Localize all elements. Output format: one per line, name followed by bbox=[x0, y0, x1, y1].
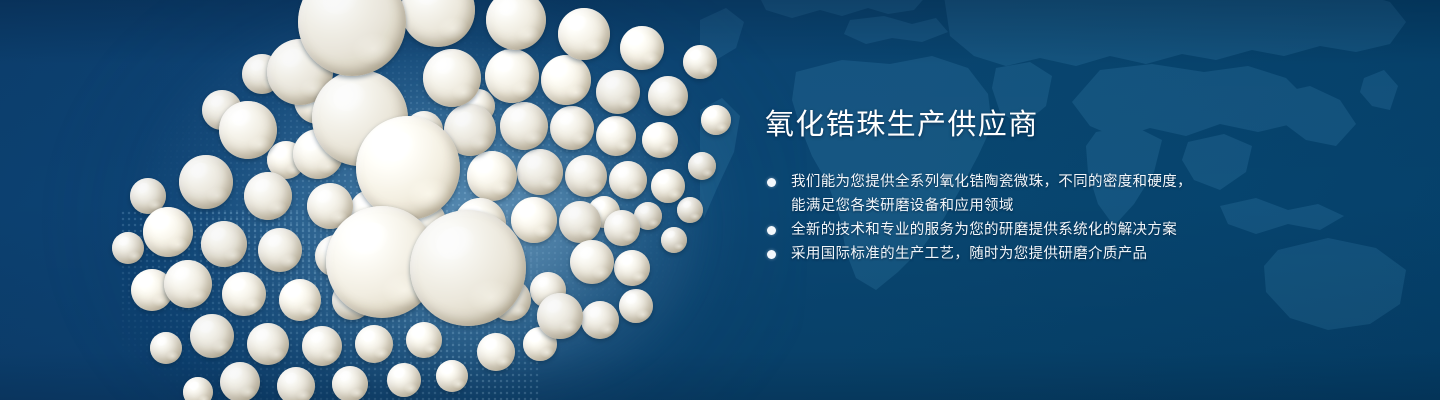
zirconia-bead bbox=[258, 228, 302, 272]
zirconia-bead bbox=[410, 210, 526, 326]
zirconia-bead bbox=[609, 161, 647, 199]
feature-list-item-line: 全新的技术和专业的服务为您的研磨提供系统化的解决方案 bbox=[791, 218, 1385, 242]
zirconia-bead bbox=[581, 301, 619, 339]
zirconia-bead bbox=[332, 366, 368, 400]
zirconia-bead bbox=[219, 101, 277, 159]
zirconia-bead bbox=[511, 197, 557, 243]
zirconia-bead bbox=[436, 360, 468, 392]
feature-list-item: 我们能为您提供全系列氧化锆陶瓷微珠，不同的密度和硬度，能满足您各类研磨设备和应用… bbox=[765, 170, 1385, 218]
zirconia-bead bbox=[279, 279, 321, 321]
zirconia-bead bbox=[355, 325, 393, 363]
zirconia-bead bbox=[485, 49, 539, 103]
zirconia-bead bbox=[642, 122, 678, 158]
feature-list: 我们能为您提供全系列氧化锆陶瓷微珠，不同的密度和硬度，能满足您各类研磨设备和应用… bbox=[765, 170, 1385, 266]
zirconia-bead bbox=[179, 155, 233, 209]
zirconia-bead bbox=[467, 151, 517, 201]
zirconia-bead bbox=[683, 45, 717, 79]
zirconia-bead bbox=[356, 116, 460, 220]
zirconia-bead bbox=[387, 363, 421, 397]
zirconia-bead bbox=[143, 207, 193, 257]
zirconia-bead bbox=[648, 76, 688, 116]
zirconia-bead bbox=[620, 26, 664, 70]
page-title: 氧化锆珠生产供应商 bbox=[765, 111, 1039, 140]
bullet-dot-icon bbox=[767, 178, 776, 187]
zirconia-bead bbox=[596, 70, 640, 114]
bullet-dot-icon bbox=[767, 250, 776, 259]
zirconia-bead bbox=[614, 250, 650, 286]
zirconia-bead bbox=[183, 377, 213, 400]
hero-banner: 氧化锆珠生产供应商 我们能为您提供全系列氧化锆陶瓷微珠，不同的密度和硬度，能满足… bbox=[0, 0, 1440, 400]
zirconia-bead bbox=[541, 55, 591, 105]
zirconia-bead bbox=[247, 323, 289, 365]
zirconia-bead bbox=[550, 106, 594, 150]
zirconia-bead bbox=[688, 152, 716, 180]
zirconia-bead bbox=[401, 0, 475, 47]
zirconia-bead bbox=[477, 333, 515, 371]
zirconia-bead bbox=[604, 210, 640, 246]
feature-list-item-line: 采用国际标准的生产工艺，随时为您提供研磨介质产品 bbox=[791, 242, 1385, 266]
banner-content: 氧化锆珠生产供应商 我们能为您提供全系列氧化锆陶瓷微珠，不同的密度和硬度，能满足… bbox=[765, 0, 1385, 400]
bullet-dot-icon bbox=[767, 226, 776, 235]
zirconia-bead bbox=[486, 0, 546, 50]
zirconia-bead bbox=[677, 197, 703, 223]
zirconia-bead bbox=[537, 293, 583, 339]
feature-list-item-line: 我们能为您提供全系列氧化锆陶瓷微珠，不同的密度和硬度， bbox=[791, 170, 1385, 194]
feature-list-item: 全新的技术和专业的服务为您的研磨提供系统化的解决方案 bbox=[765, 218, 1385, 242]
zirconia-bead bbox=[201, 221, 247, 267]
zirconia-bead bbox=[244, 172, 292, 220]
zirconia-bead bbox=[222, 272, 266, 316]
zirconia-bead bbox=[277, 367, 315, 400]
zirconia-bead bbox=[406, 322, 442, 358]
zirconia-bead bbox=[701, 105, 731, 135]
zirconia-bead bbox=[190, 314, 234, 358]
zirconia-bead bbox=[565, 155, 607, 197]
zirconia-bead bbox=[112, 232, 144, 264]
zirconia-bead bbox=[661, 227, 687, 253]
zirconia-bead bbox=[651, 169, 685, 203]
feature-list-item: 采用国际标准的生产工艺，随时为您提供研磨介质产品 bbox=[765, 242, 1385, 266]
zirconia-bead bbox=[302, 326, 342, 366]
zirconia-bead bbox=[220, 362, 260, 400]
zirconia-bead bbox=[558, 8, 610, 60]
zirconia-bead bbox=[596, 116, 636, 156]
zirconia-bead bbox=[559, 201, 601, 243]
zirconia-bead bbox=[570, 240, 614, 284]
zirconia-bead bbox=[164, 260, 212, 308]
zirconia-beads-photo bbox=[0, 0, 760, 400]
feature-list-item-line: 能满足您各类研磨设备和应用领域 bbox=[791, 194, 1385, 218]
zirconia-bead bbox=[500, 102, 548, 150]
zirconia-bead bbox=[150, 332, 182, 364]
zirconia-bead bbox=[619, 289, 653, 323]
zirconia-bead bbox=[423, 49, 481, 107]
zirconia-bead bbox=[517, 149, 563, 195]
